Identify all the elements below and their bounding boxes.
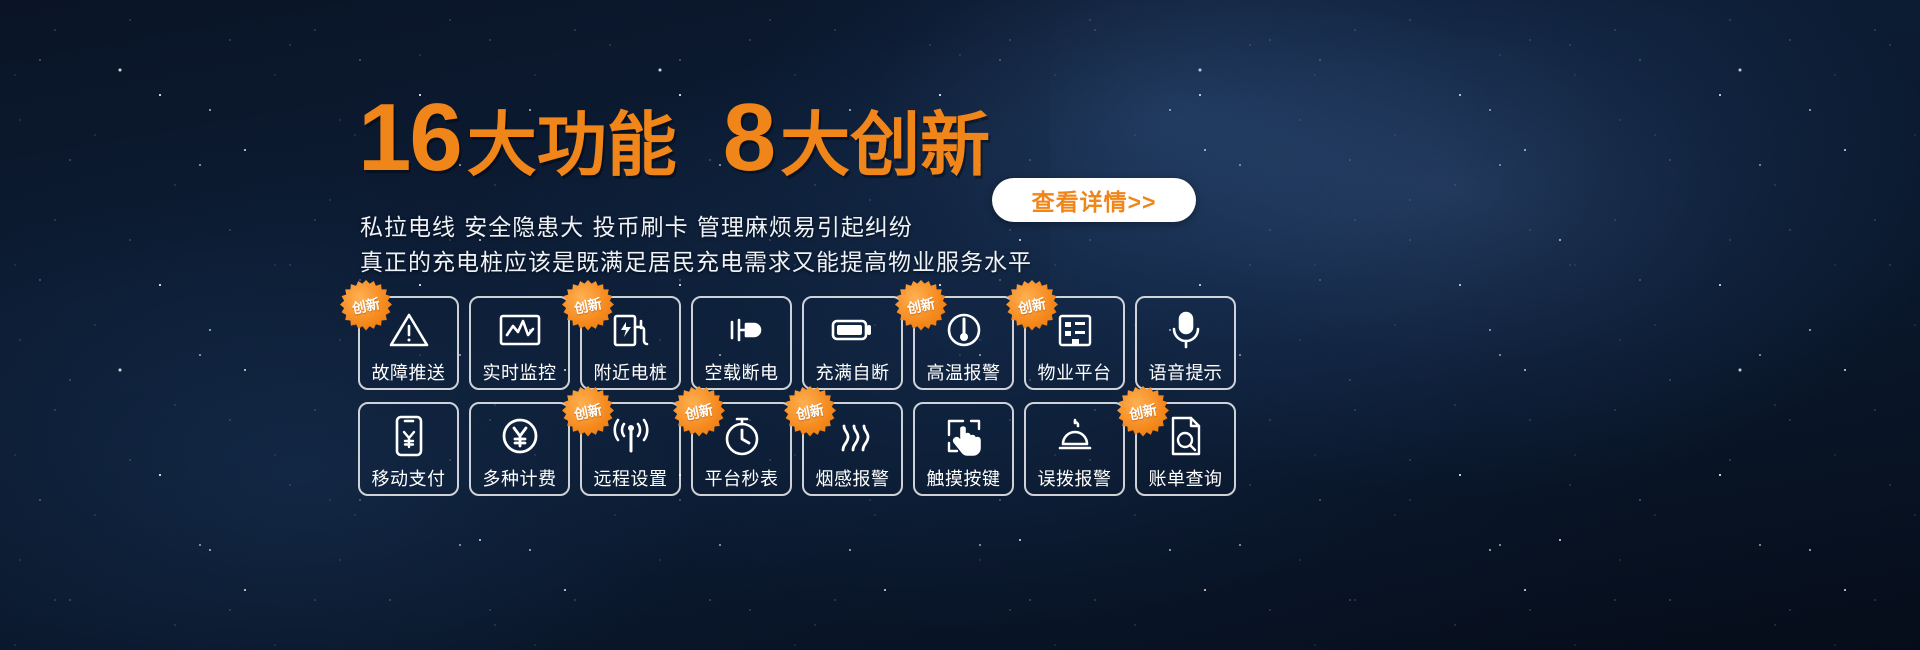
- feature-card-overheat-alarm[interactable]: 创新 高温报警: [913, 296, 1014, 390]
- mobile-payment-icon: [386, 413, 432, 459]
- innovation-badge: 创新: [1117, 386, 1169, 438]
- feature-row-2: 移动支付 多种计费 创新: [358, 402, 1236, 496]
- feature-card-realtime-monitor[interactable]: 实时监控: [469, 296, 570, 390]
- innovation-badge: 创新: [895, 280, 947, 332]
- feature-card-misdial-alarm[interactable]: 误拨报警: [1024, 402, 1125, 496]
- feature-label: 故障推送: [372, 359, 446, 385]
- feature-card-voice-prompt[interactable]: 语音提示: [1135, 296, 1236, 390]
- banner-content: 16 大功能 8 大创新 私拉电线 安全隐患大 投币刷卡 管理麻烦易引起纠纷 真…: [0, 0, 1920, 650]
- innovation-badge: 创新: [340, 280, 392, 332]
- headline-text-innovations: 大创新: [780, 110, 990, 180]
- headline-text-functions: 大功能: [467, 110, 677, 180]
- charging-station-icon: [608, 307, 654, 353]
- feature-card-multi-billing[interactable]: 多种计费: [469, 402, 570, 496]
- feature-card-bill-query[interactable]: 创新 账单查询: [1135, 402, 1236, 496]
- warning-triangle-icon: [386, 307, 432, 353]
- feature-label: 移动支付: [372, 465, 446, 491]
- promo-banner: 16 大功能 8 大创新 私拉电线 安全隐患大 投币刷卡 管理麻烦易引起纠纷 真…: [0, 0, 1920, 650]
- innovation-badge: 创新: [1006, 280, 1058, 332]
- feature-card-property-platform[interactable]: 创新 物业平台: [1024, 296, 1125, 390]
- feature-card-mobile-payment[interactable]: 移动支付: [358, 402, 459, 496]
- feature-label: 语音提示: [1149, 359, 1223, 385]
- feature-row-1: 创新 故障推送 实: [358, 296, 1236, 390]
- feature-card-remote-setting[interactable]: 创新 远程设置: [580, 402, 681, 496]
- thermometer-icon: [941, 307, 987, 353]
- feature-label: 高温报警: [927, 359, 1001, 385]
- plug-disconnect-icon: [719, 307, 765, 353]
- feature-label: 烟感报警: [816, 465, 890, 491]
- feature-label: 触摸按键: [927, 465, 1001, 491]
- smoke-detector-icon: [830, 413, 876, 459]
- feature-label: 账单查询: [1149, 465, 1223, 491]
- touch-hand-icon: [941, 413, 987, 459]
- headline-number-8: 8: [723, 92, 774, 183]
- headline-number-16: 16: [358, 92, 461, 183]
- feature-card-full-autostop[interactable]: 充满自断: [802, 296, 903, 390]
- feature-label: 物业平台: [1038, 359, 1112, 385]
- stopwatch-icon: [719, 413, 765, 459]
- feature-card-touch-button[interactable]: 触摸按键: [913, 402, 1014, 496]
- feature-label: 附近电桩: [594, 359, 668, 385]
- feature-card-smoke-alarm[interactable]: 创新 烟感报警: [802, 402, 903, 496]
- feature-label: 实时监控: [483, 359, 557, 385]
- feature-label: 空载断电: [705, 359, 779, 385]
- yuan-coin-icon: [497, 413, 543, 459]
- feature-card-idle-cutoff[interactable]: 空载断电: [691, 296, 792, 390]
- innovation-badge: 创新: [562, 280, 614, 332]
- bill-search-icon: [1163, 413, 1209, 459]
- monitor-waveform-icon: [497, 307, 543, 353]
- subtitle-line-2: 真正的充电桩应该是既满足居民充电需求又能提高物业服务水平: [360, 243, 1032, 277]
- feature-label: 平台秒表: [705, 465, 779, 491]
- alarm-bell-icon: [1052, 413, 1098, 459]
- feature-card-fault-push[interactable]: 创新 故障推送: [358, 296, 459, 390]
- subtitle-line-1: 私拉电线 安全隐患大 投币刷卡 管理麻烦易引起纠纷: [360, 208, 913, 242]
- innovation-badge: 创新: [673, 386, 725, 438]
- battery-full-icon: [830, 307, 876, 353]
- microphone-icon: [1163, 307, 1209, 353]
- feature-card-platform-stopwatch[interactable]: 创新 平台秒表: [691, 402, 792, 496]
- wireless-signal-icon: [608, 413, 654, 459]
- innovation-badge: 创新: [562, 386, 614, 438]
- view-details-button[interactable]: 查看详情>>: [992, 178, 1196, 222]
- feature-label: 多种计费: [483, 465, 557, 491]
- feature-card-nearby-stations[interactable]: 创新 附近电桩: [580, 296, 681, 390]
- building-icon: [1052, 307, 1098, 353]
- headline: 16 大功能 8 大创新: [358, 92, 990, 183]
- feature-grid: 创新 故障推送 实: [358, 296, 1236, 496]
- innovation-badge: 创新: [784, 386, 836, 438]
- feature-label: 充满自断: [816, 359, 890, 385]
- feature-label: 远程设置: [594, 465, 668, 491]
- feature-label: 误拨报警: [1038, 465, 1112, 491]
